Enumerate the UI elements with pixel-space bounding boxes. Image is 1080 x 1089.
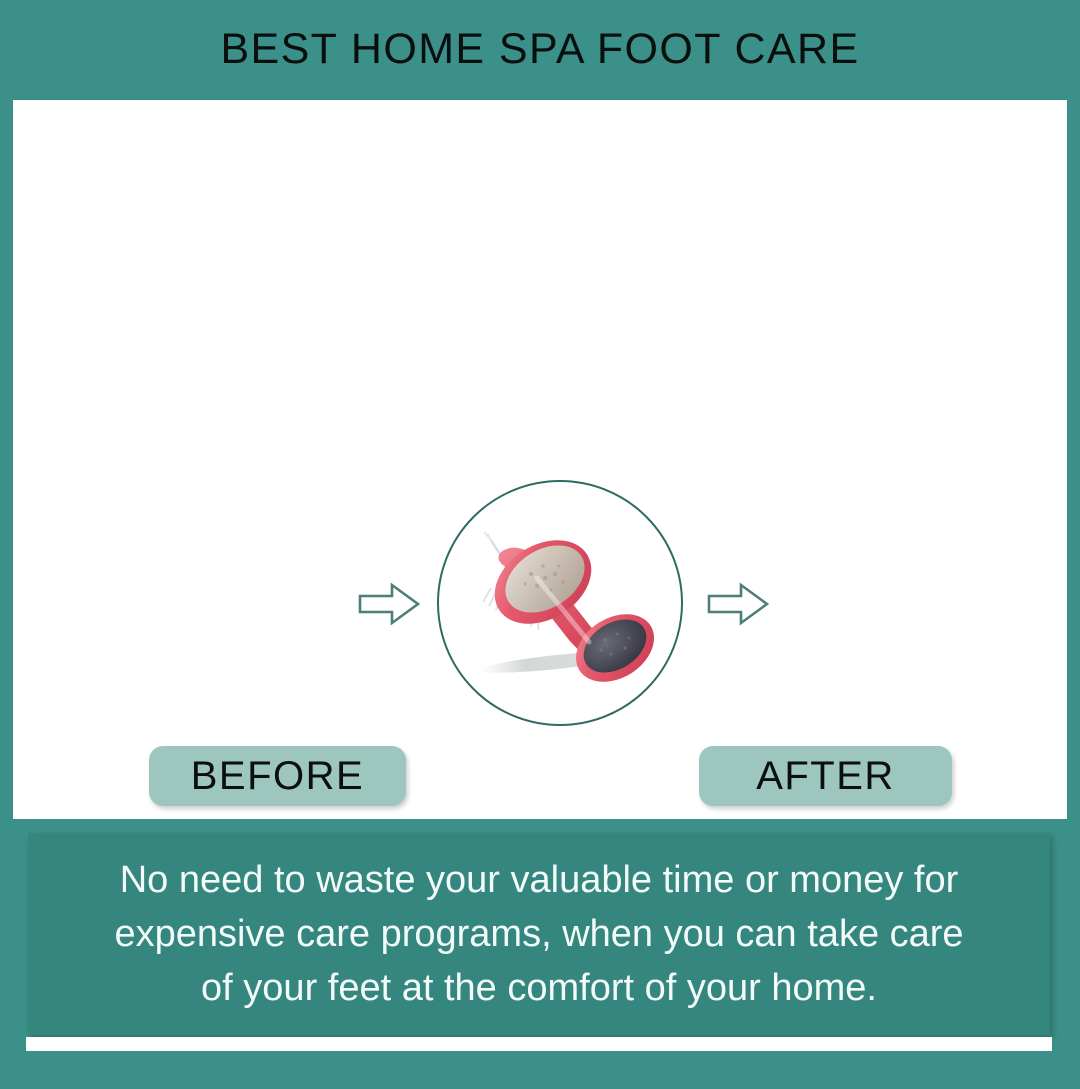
arrow-right-icon-svg bbox=[707, 582, 769, 626]
foot-file-tool-icon bbox=[439, 482, 677, 720]
message-line-1: No need to waste your valuable time or m… bbox=[120, 853, 959, 907]
poster-root: BEST HOME SPA FOOT CARE bbox=[0, 0, 1080, 1089]
before-foot-image bbox=[123, 100, 423, 760]
foot-file-tool-circle bbox=[437, 480, 683, 726]
after-label-text: AFTER bbox=[756, 754, 895, 799]
arrow-right-icon-svg bbox=[358, 582, 420, 626]
after-label-badge: AFTER bbox=[699, 746, 952, 806]
message-line-2: expensive care programs, when you can ta… bbox=[114, 907, 963, 961]
after-foot-image bbox=[651, 100, 951, 760]
message-line-3: of your feet at the comfort of your home… bbox=[201, 961, 877, 1015]
before-label-badge: BEFORE bbox=[149, 746, 406, 806]
before-label-text: BEFORE bbox=[191, 754, 364, 799]
hang-string-2 bbox=[484, 532, 491, 540]
title-bar: BEST HOME SPA FOOT CARE bbox=[0, 0, 1080, 98]
arrow-right-icon-left bbox=[358, 582, 420, 626]
comparison-panel: BEFORE AFTER bbox=[13, 100, 1067, 819]
page-title: BEST HOME SPA FOOT CARE bbox=[220, 25, 859, 74]
bottom-white-strip bbox=[26, 1037, 1052, 1051]
message-panel: No need to waste your valuable time or m… bbox=[28, 833, 1050, 1035]
arrow-right-icon-right bbox=[707, 582, 769, 626]
